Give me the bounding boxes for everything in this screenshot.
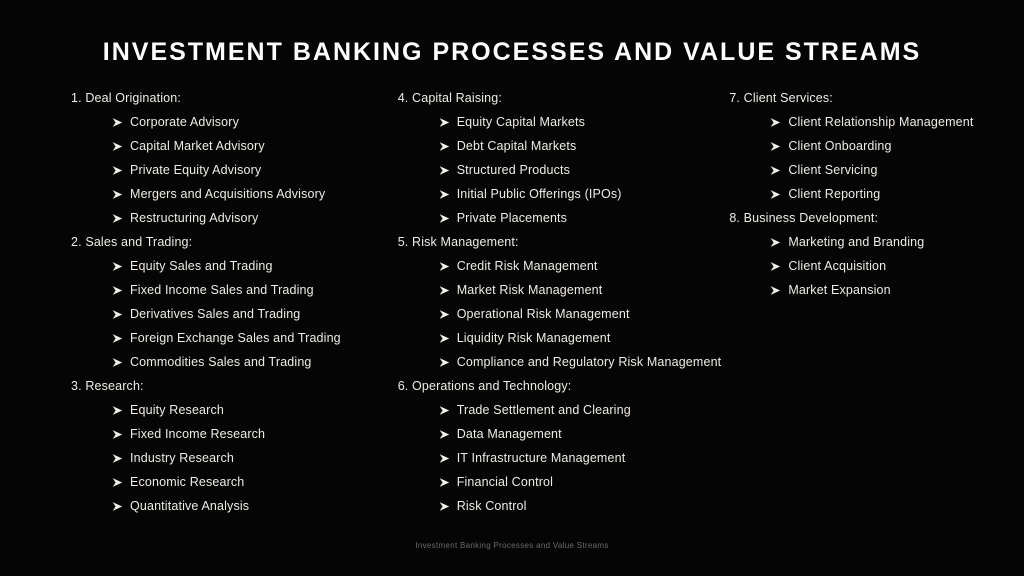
list-item: Fixed Income Sales and Trading (71, 278, 381, 302)
list-item: Private Placements (398, 206, 722, 230)
list-item: IT Infrastructure Management (398, 446, 722, 470)
arrowhead-bullet-icon (112, 285, 130, 296)
list-item-label: Data Management (457, 422, 562, 446)
list-item-label: Trade Settlement and Clearing (457, 398, 631, 422)
list-item: Compliance and Regulatory Risk Managemen… (398, 350, 722, 374)
list-item: Data Management (398, 422, 722, 446)
list-item-label: Client Servicing (788, 158, 877, 182)
list-item-label: Operational Risk Management (457, 302, 630, 326)
section-heading: 5. Risk Management: (398, 230, 722, 254)
list-item: Equity Sales and Trading (71, 254, 381, 278)
list-item-label: Equity Research (130, 398, 224, 422)
arrowhead-bullet-icon (439, 501, 457, 512)
list-item-label: Client Acquisition (788, 254, 886, 278)
arrowhead-bullet-icon (112, 309, 130, 320)
list-item: Corporate Advisory (71, 110, 381, 134)
arrowhead-bullet-icon (770, 285, 788, 296)
arrowhead-bullet-icon (770, 165, 788, 176)
section-heading: 7. Client Services: (729, 86, 1024, 110)
list-item: Marketing and Branding (729, 230, 1024, 254)
arrowhead-bullet-icon (439, 285, 457, 296)
arrowhead-bullet-icon (112, 357, 130, 368)
list-item-label: Economic Research (130, 470, 244, 494)
process-section: 1. Deal Origination:Corporate AdvisoryCa… (71, 86, 381, 230)
list-item-label: Financial Control (457, 470, 553, 494)
list-item-label: Equity Capital Markets (457, 110, 585, 134)
list-item: Quantitative Analysis (71, 494, 381, 518)
arrowhead-bullet-icon (439, 429, 457, 440)
arrowhead-bullet-icon (112, 213, 130, 224)
arrowhead-bullet-icon (112, 429, 130, 440)
page-title: INVESTMENT BANKING PROCESSES AND VALUE S… (0, 38, 1024, 67)
section-heading: 4. Capital Raising: (398, 86, 722, 110)
process-section: 8. Business Development:Marketing and Br… (729, 206, 1024, 302)
list-item: Client Relationship Management (729, 110, 1024, 134)
list-item: Credit Risk Management (398, 254, 722, 278)
arrowhead-bullet-icon (112, 501, 130, 512)
arrowhead-bullet-icon (112, 333, 130, 344)
list-item-label: Liquidity Risk Management (457, 326, 611, 350)
arrowhead-bullet-icon (112, 165, 130, 176)
arrowhead-bullet-icon (770, 189, 788, 200)
list-item-label: Client Reporting (788, 182, 880, 206)
section-heading: 3. Research: (71, 374, 381, 398)
content-columns: 1. Deal Origination:Corporate AdvisoryCa… (0, 86, 1024, 518)
process-section: 7. Client Services:Client Relationship M… (729, 86, 1024, 206)
process-section: 4. Capital Raising:Equity Capital Market… (398, 86, 722, 230)
list-item-label: Risk Control (457, 494, 527, 518)
arrowhead-bullet-icon (439, 309, 457, 320)
arrowhead-bullet-icon (439, 357, 457, 368)
list-item: Industry Research (71, 446, 381, 470)
content-column-1: 1. Deal Origination:Corporate AdvisoryCa… (0, 86, 381, 518)
section-heading: 8. Business Development: (729, 206, 1024, 230)
arrowhead-bullet-icon (112, 189, 130, 200)
list-item: Economic Research (71, 470, 381, 494)
list-item-label: Client Relationship Management (788, 110, 973, 134)
list-item-label: Mergers and Acquisitions Advisory (130, 182, 325, 206)
list-item-label: Derivatives Sales and Trading (130, 302, 300, 326)
list-item: Client Reporting (729, 182, 1024, 206)
arrowhead-bullet-icon (439, 405, 457, 416)
arrowhead-bullet-icon (112, 405, 130, 416)
list-item: Debt Capital Markets (398, 134, 722, 158)
list-item: Foreign Exchange Sales and Trading (71, 326, 381, 350)
section-heading: 1. Deal Origination: (71, 86, 381, 110)
arrowhead-bullet-icon (770, 141, 788, 152)
list-item-label: Market Expansion (788, 278, 890, 302)
arrowhead-bullet-icon (439, 261, 457, 272)
list-item-label: Equity Sales and Trading (130, 254, 273, 278)
arrowhead-bullet-icon (439, 333, 457, 344)
arrowhead-bullet-icon (770, 237, 788, 248)
list-item: Financial Control (398, 470, 722, 494)
slide-canvas: INVESTMENT BANKING PROCESSES AND VALUE S… (0, 0, 1024, 576)
arrowhead-bullet-icon (112, 117, 130, 128)
list-item-label: Compliance and Regulatory Risk Managemen… (457, 350, 722, 374)
list-item: Capital Market Advisory (71, 134, 381, 158)
list-item-label: Private Equity Advisory (130, 158, 261, 182)
arrowhead-bullet-icon (439, 213, 457, 224)
slide-footer: Investment Banking Processes and Value S… (0, 541, 1024, 550)
content-column-3: 7. Client Services:Client Relationship M… (721, 86, 1024, 302)
arrowhead-bullet-icon (439, 117, 457, 128)
arrowhead-bullet-icon (439, 165, 457, 176)
list-item: Fixed Income Research (71, 422, 381, 446)
arrowhead-bullet-icon (439, 453, 457, 464)
list-item-label: Debt Capital Markets (457, 134, 577, 158)
list-item-label: Client Onboarding (788, 134, 891, 158)
list-item: Mergers and Acquisitions Advisory (71, 182, 381, 206)
list-item: Risk Control (398, 494, 722, 518)
arrowhead-bullet-icon (112, 453, 130, 464)
arrowhead-bullet-icon (770, 117, 788, 128)
list-item: Commodities Sales and Trading (71, 350, 381, 374)
list-item-label: Initial Public Offerings (IPOs) (457, 182, 622, 206)
list-item: Client Onboarding (729, 134, 1024, 158)
list-item-label: Fixed Income Research (130, 422, 265, 446)
arrowhead-bullet-icon (439, 189, 457, 200)
arrowhead-bullet-icon (439, 141, 457, 152)
arrowhead-bullet-icon (112, 477, 130, 488)
list-item-label: IT Infrastructure Management (457, 446, 626, 470)
list-item: Private Equity Advisory (71, 158, 381, 182)
list-item: Client Servicing (729, 158, 1024, 182)
process-section: 3. Research:Equity ResearchFixed Income … (71, 374, 381, 518)
list-item-label: Quantitative Analysis (130, 494, 249, 518)
list-item: Equity Capital Markets (398, 110, 722, 134)
list-item: Derivatives Sales and Trading (71, 302, 381, 326)
process-section: 6. Operations and Technology:Trade Settl… (398, 374, 722, 518)
list-item: Market Risk Management (398, 278, 722, 302)
list-item-label: Marketing and Branding (788, 230, 924, 254)
process-section: 5. Risk Management:Credit Risk Managemen… (398, 230, 722, 374)
list-item-label: Market Risk Management (457, 278, 603, 302)
list-item: Market Expansion (729, 278, 1024, 302)
arrowhead-bullet-icon (439, 477, 457, 488)
list-item: Equity Research (71, 398, 381, 422)
list-item: Trade Settlement and Clearing (398, 398, 722, 422)
list-item: Operational Risk Management (398, 302, 722, 326)
list-item-label: Commodities Sales and Trading (130, 350, 312, 374)
list-item-label: Industry Research (130, 446, 234, 470)
list-item: Initial Public Offerings (IPOs) (398, 182, 722, 206)
list-item-label: Fixed Income Sales and Trading (130, 278, 314, 302)
list-item: Restructuring Advisory (71, 206, 381, 230)
content-column-2: 4. Capital Raising:Equity Capital Market… (381, 86, 722, 518)
list-item-label: Structured Products (457, 158, 570, 182)
list-item-label: Capital Market Advisory (130, 134, 265, 158)
arrowhead-bullet-icon (112, 261, 130, 272)
list-item: Client Acquisition (729, 254, 1024, 278)
process-section: 2. Sales and Trading:Equity Sales and Tr… (71, 230, 381, 374)
list-item-label: Credit Risk Management (457, 254, 598, 278)
list-item-label: Foreign Exchange Sales and Trading (130, 326, 341, 350)
list-item: Liquidity Risk Management (398, 326, 722, 350)
list-item-label: Corporate Advisory (130, 110, 239, 134)
arrowhead-bullet-icon (770, 261, 788, 272)
list-item-label: Private Placements (457, 206, 567, 230)
list-item-label: Restructuring Advisory (130, 206, 258, 230)
section-heading: 2. Sales and Trading: (71, 230, 381, 254)
arrowhead-bullet-icon (112, 141, 130, 152)
section-heading: 6. Operations and Technology: (398, 374, 722, 398)
list-item: Structured Products (398, 158, 722, 182)
